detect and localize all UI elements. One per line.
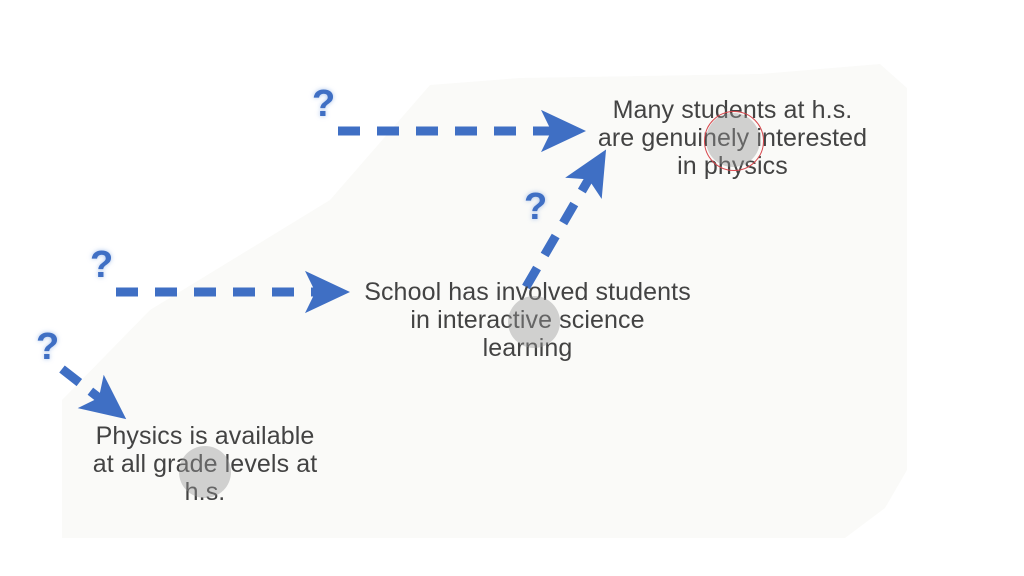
question-mark-top: ? — [312, 85, 335, 123]
question-mark-bottom: ? — [36, 328, 59, 366]
click-indicator-interactive — [508, 296, 560, 348]
click-indicator-ring-genuinely — [704, 111, 764, 171]
diagram-canvas: Many students at h.s. are genuinely inte… — [0, 0, 1024, 576]
arrow-to-physics-available — [62, 369, 112, 408]
question-mark-left: ? — [90, 246, 113, 284]
click-indicator-grade-levels — [179, 446, 231, 498]
question-mark-middle: ? — [524, 188, 547, 226]
